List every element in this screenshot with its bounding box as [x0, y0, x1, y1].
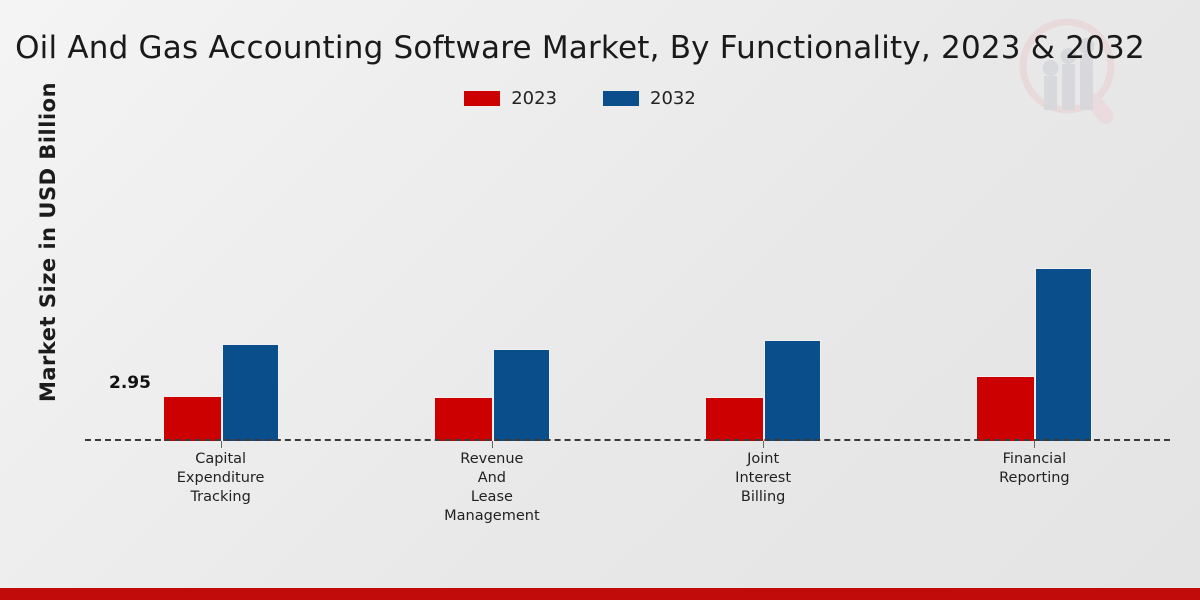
bar-group-capital-expenditure-tracking: 2.95: [85, 150, 356, 441]
bar-2032-capital-expenditure-tracking[interactable]: [222, 344, 279, 441]
bar-2032-joint-interest-billing[interactable]: [764, 340, 821, 441]
bar-group-revenue-and-lease-management: [356, 150, 627, 441]
x-axis-label-capital-expenditure-tracking: Capital Expenditure Tracking: [85, 450, 356, 526]
x-axis-label-line: Joint: [628, 450, 899, 469]
x-axis-tick: [763, 441, 764, 448]
x-axis-label-line: Billing: [628, 488, 899, 507]
bar-group-joint-interest-billing: [628, 150, 899, 441]
x-axis-category-labels: Capital Expenditure Tracking Revenue And…: [85, 450, 1170, 526]
x-axis-label-line: Capital: [85, 450, 356, 469]
x-axis-label-revenue-and-lease-management: Revenue And Lease Management: [356, 450, 627, 526]
x-axis-tick: [1034, 441, 1035, 448]
bar-2023-financial-reporting[interactable]: [976, 376, 1035, 441]
x-axis-label-line: Management: [356, 507, 627, 526]
chart-canvas: Oil And Gas Accounting Software Market, …: [0, 0, 1200, 600]
x-axis-tick: [492, 441, 493, 448]
chart-legend: 2023 2032: [0, 88, 1160, 109]
x-axis-label-line: Expenditure: [85, 469, 356, 488]
legend-item-2023[interactable]: 2023: [464, 88, 557, 109]
plot-area: 2.95: [85, 150, 1170, 441]
legend-swatch-2023: [464, 91, 500, 106]
x-axis-label-line: Interest: [628, 469, 899, 488]
x-axis-label-line: Reporting: [899, 469, 1170, 488]
x-axis-label-line: Financial: [899, 450, 1170, 469]
bar-2032-revenue-and-lease-management[interactable]: [493, 349, 550, 441]
legend-swatch-2032: [603, 91, 639, 106]
chart-title: Oil And Gas Accounting Software Market, …: [0, 30, 1160, 66]
bar-group-financial-reporting: [899, 150, 1170, 441]
footer-accent-bar: [0, 588, 1200, 600]
legend-label-2032: 2032: [650, 88, 696, 109]
legend-item-2032[interactable]: 2032: [603, 88, 696, 109]
bar-2023-capital-expenditure-tracking[interactable]: [163, 396, 222, 441]
bar-2032-financial-reporting[interactable]: [1035, 268, 1092, 441]
x-axis-tick: [221, 441, 222, 448]
x-axis-label-line: And: [356, 469, 627, 488]
bar-2023-joint-interest-billing[interactable]: [705, 397, 764, 441]
x-axis-baseline: [85, 439, 1170, 441]
bar-2023-revenue-and-lease-management[interactable]: [434, 397, 493, 441]
y-axis-title: Market Size in USD Billion: [36, 42, 60, 442]
x-axis-label-joint-interest-billing: Joint Interest Billing: [628, 450, 899, 526]
x-axis-label-financial-reporting: Financial Reporting: [899, 450, 1170, 526]
bar-groups: 2.95: [85, 150, 1170, 441]
bar-value-label-2023-capital-expenditure-tracking: 2.95: [109, 373, 151, 393]
x-axis-label-line: Tracking: [85, 488, 356, 507]
legend-label-2023: 2023: [511, 88, 557, 109]
x-axis-label-line: Revenue: [356, 450, 627, 469]
x-axis-label-line: Lease: [356, 488, 627, 507]
